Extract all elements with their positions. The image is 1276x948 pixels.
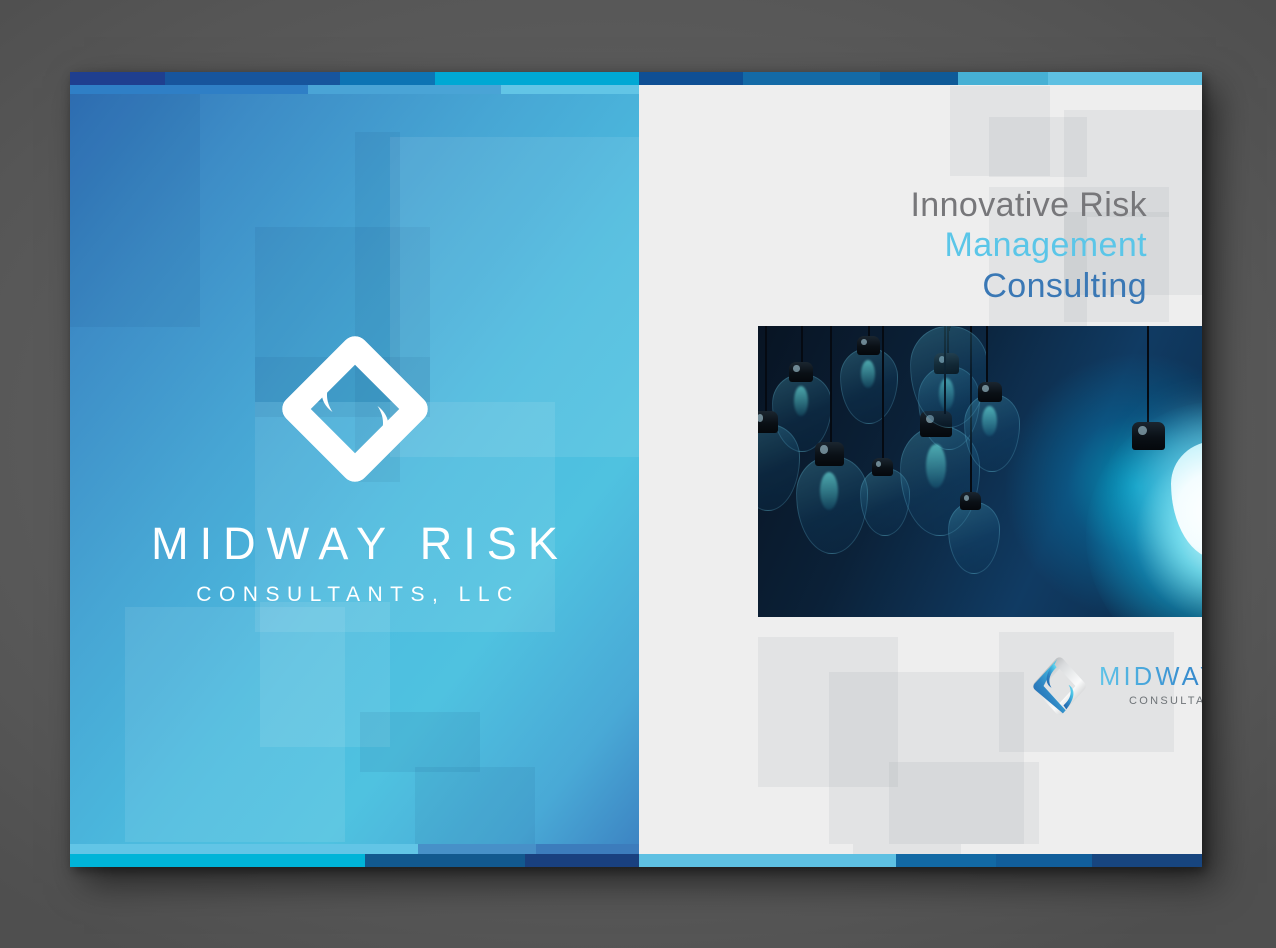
presentation-folder: MIDWAY RISK CONSULTANTS, LLC Innovative … bbox=[70, 72, 1202, 867]
headline: Innovative Risk Management Consulting bbox=[910, 185, 1147, 306]
color-band-segment bbox=[853, 844, 961, 854]
color-band-segment bbox=[525, 854, 639, 867]
color-band-segment bbox=[501, 85, 639, 94]
company-sub: CONSULTANTS, LLC bbox=[70, 583, 639, 607]
midway-diamond-mark-gradient-icon bbox=[1031, 655, 1088, 717]
footer-logo: MIDWAY RISK CONSULTANTS, LLC bbox=[1031, 655, 1202, 717]
color-band-segment bbox=[340, 72, 435, 85]
footer-logo-text: MIDWAY RISK CONSULTANTS, LLC bbox=[1099, 665, 1202, 708]
color-band-segment bbox=[639, 72, 743, 85]
right-bottom-color-band-2 bbox=[639, 854, 1202, 867]
left-top-color-band bbox=[70, 72, 639, 85]
decor-square bbox=[889, 762, 1039, 847]
color-band-segment bbox=[70, 85, 308, 94]
color-band-segment bbox=[308, 85, 501, 94]
hanging-lightbulbs-photo bbox=[758, 326, 1202, 617]
footer-logo-sub: CONSULTANTS, LLC bbox=[1099, 696, 1202, 707]
color-band-segment bbox=[743, 72, 880, 85]
color-band-segment bbox=[1092, 854, 1202, 867]
color-band-segment bbox=[958, 72, 1048, 85]
footer-logo-name: MIDWAY RISK bbox=[1099, 665, 1202, 691]
color-band-segment bbox=[435, 72, 639, 85]
color-band-segment bbox=[896, 854, 996, 867]
color-band-segment bbox=[70, 844, 418, 854]
color-band-segment bbox=[70, 72, 165, 85]
left-logo-block: MIDWAY RISK CONSULTANTS, LLC bbox=[70, 334, 639, 607]
decor-square bbox=[360, 712, 480, 772]
company-name: MIDWAY RISK bbox=[70, 518, 639, 570]
right-top-color-band bbox=[639, 72, 1202, 85]
color-band-segment bbox=[1048, 72, 1202, 85]
color-band-segment bbox=[536, 844, 639, 854]
color-band-segment bbox=[639, 854, 896, 867]
decor-square bbox=[70, 72, 200, 327]
right-bottom-color-band bbox=[639, 844, 1202, 854]
color-band-segment bbox=[70, 854, 365, 867]
color-band-segment bbox=[961, 844, 1202, 854]
left-top-color-band-2 bbox=[70, 85, 639, 94]
left-bottom-color-band-2 bbox=[70, 854, 639, 867]
headline-line-1: Innovative Risk bbox=[910, 185, 1147, 225]
left-bottom-color-band bbox=[70, 844, 639, 854]
color-band-segment bbox=[418, 844, 536, 854]
cover-left-panel: MIDWAY RISK CONSULTANTS, LLC bbox=[70, 72, 639, 867]
color-band-segment bbox=[996, 854, 1092, 867]
midway-diamond-mark-icon bbox=[280, 334, 430, 484]
color-band-segment bbox=[880, 72, 958, 85]
color-band-segment bbox=[165, 72, 340, 85]
color-band-segment bbox=[639, 844, 853, 854]
headline-line-3: Consulting bbox=[910, 266, 1147, 306]
color-band-segment bbox=[365, 854, 525, 867]
cover-right-panel: Innovative Risk Management Consulting bbox=[639, 72, 1202, 867]
hero-bulb-cap bbox=[1132, 422, 1165, 450]
headline-line-2: Management bbox=[910, 225, 1147, 265]
